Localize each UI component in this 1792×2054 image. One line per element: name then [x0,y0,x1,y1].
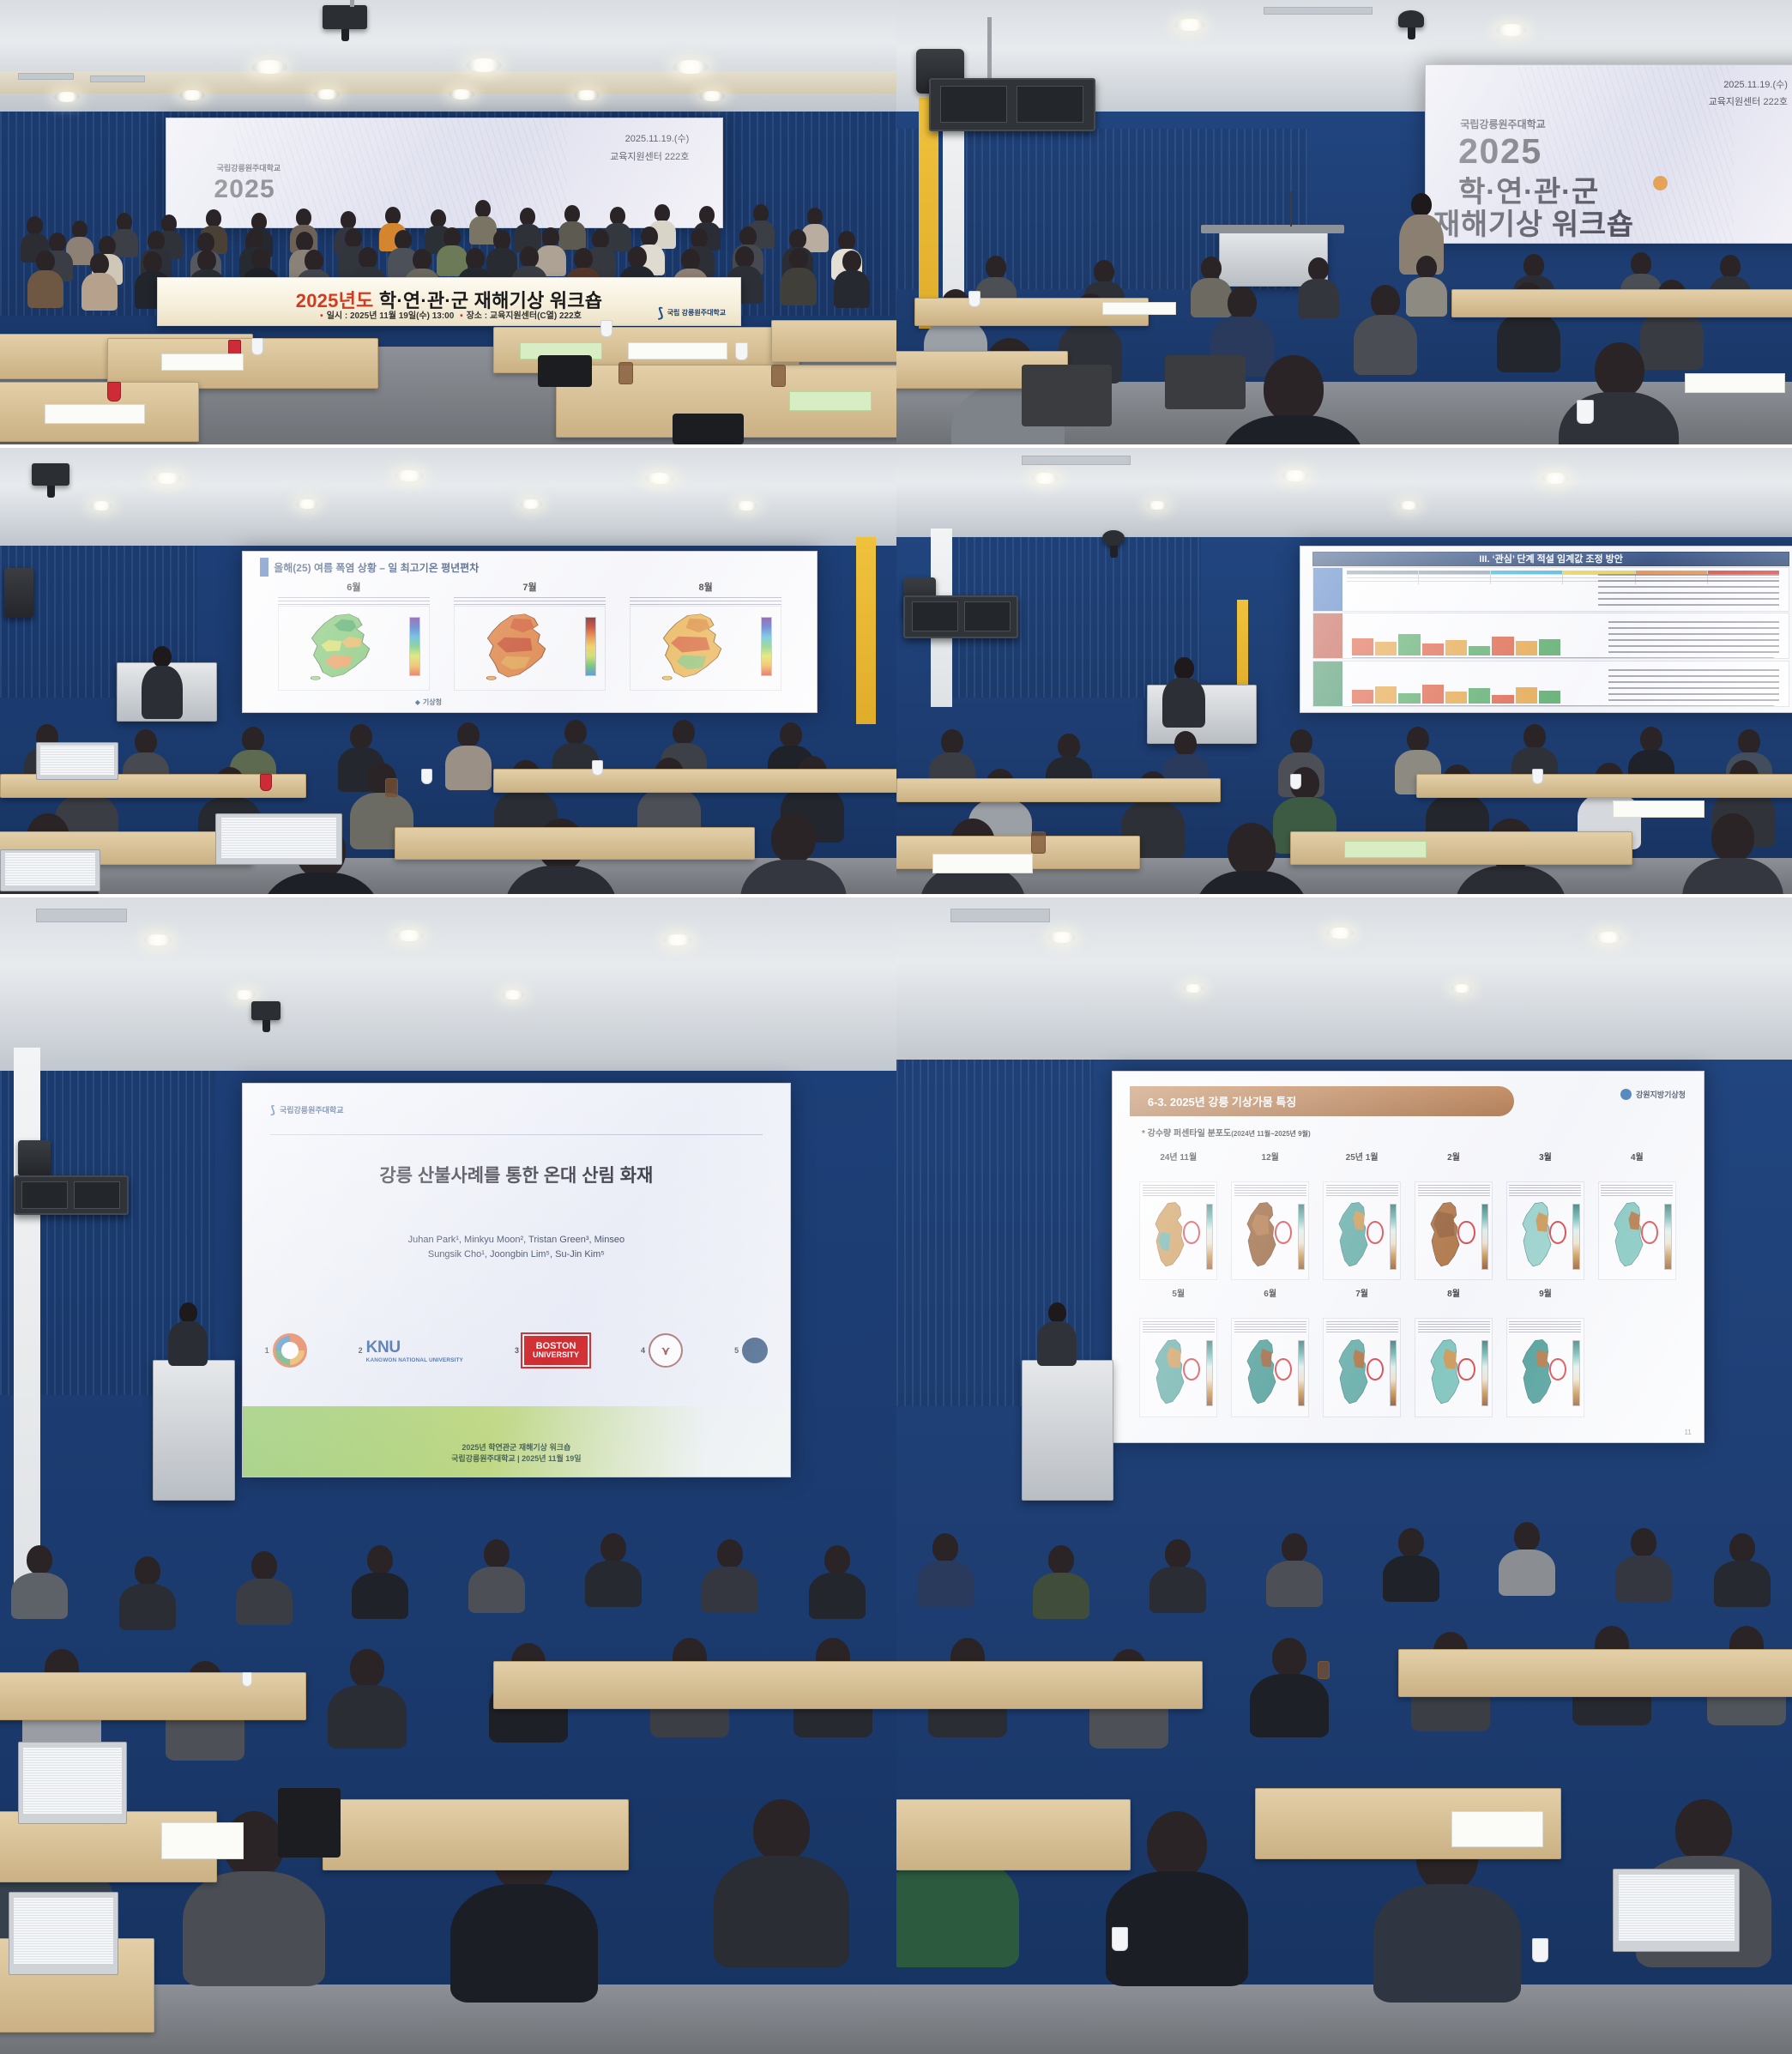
presenter-head [153,646,172,668]
slide-title: III. ‘관심’ 단계 적설 임계값 조정 방안 [1479,552,1623,565]
coffee-cup [1532,769,1543,784]
affiliation-number: 5 [734,1346,739,1355]
bar [1398,634,1420,655]
kma-label: 기상청 [423,698,442,707]
ceiling-light [395,470,424,481]
slide-footer-band [243,1406,789,1477]
event-banner: 2025년도 학·연·관·군 재해기상 워크숍 •일시 : 2025년 11월 … [157,277,741,326]
kma-logo: ◆ 기상청 [415,698,442,707]
drought-map-grid: 24년 11월 12월 [1136,1150,1680,1420]
ceiling-light [520,499,542,509]
table-cell [1491,582,1562,584]
iced-drink-cup [1318,1661,1330,1679]
title-slide: 2025.11.19.(수) 교육지원센터 222호 국립강릉원주대학교 202… [166,118,722,227]
presenter-head [179,1302,197,1323]
ceiling-vent [90,76,146,82]
highlight-circle [1641,1221,1658,1244]
ceiling-light [1542,473,1569,484]
table-cell [1419,578,1490,581]
ceiling-monitor-rig [14,1175,129,1215]
slide-footer: 2025년 학연관군 재해기상 워크숍 국립강릉원주대학교 | 2025년 11… [243,1442,789,1465]
desk [1398,1649,1792,1697]
map-caption [1143,1184,1215,1196]
section-tag-mountain [1313,613,1342,658]
map-frame [1415,1318,1493,1417]
korea-map-august [649,612,742,683]
map-note [630,595,781,605]
slide-body-text [1608,617,1779,653]
microphone-stand [1290,191,1292,227]
slide-line-2: 재해기상 워크숍 [1433,201,1634,243]
highlight-circle [1183,1221,1200,1244]
map-month-label: 8월 [626,580,785,594]
photo-collage: 2025.11.19.(수) 교육지원센터 222호 국립강릉원주대학교 202… [0,0,1792,2054]
projector [323,5,367,29]
map-cell: 5월 [1136,1286,1221,1420]
desk [896,778,1221,802]
ceiling-light [314,89,340,100]
affiliation-number: 3 [515,1346,519,1355]
kma-regional-name: 강원지방기상청 [1636,1089,1686,1100]
photo-heatwave-talk: 올해(25) 여름 폭염 상황 – 일 최고기온 평년편차 6월 [0,448,896,894]
desk [1416,774,1792,798]
ceiling-light [296,499,318,509]
ceiling-light [574,90,600,100]
bar [1539,691,1560,704]
kma-mark-icon: ◆ [415,698,420,706]
map-cell: 4월 [1595,1150,1680,1284]
map-month-label: 12월 [1228,1150,1312,1163]
boston-university-logo: BOSTON UNIVERSITY [522,1334,589,1367]
table-header-cell [1491,571,1562,573]
slide-room: 교육지원센터 222호 [610,148,689,166]
colorbar [409,617,420,676]
map-frame [1506,1318,1584,1417]
map-month-label: 7월 [450,580,609,594]
slide-title: 올해(25) 여름 폭염 상황 – 일 최고기온 평년편차 [274,560,479,575]
lectern [1022,1360,1113,1501]
ceiling-vent [950,909,1051,921]
colorbar [1572,1340,1579,1406]
presenter-body [168,1321,208,1366]
authors-line-1: Juhan Park¹, Minkyu Moon², Tristan Green… [243,1233,789,1248]
presentation-screen: 6-3. 2025년 강릉 기상가뭄 특징 강원지방기상청 * 강수량 퍼센타일… [1112,1071,1705,1442]
map-month-label: 4월 [1595,1150,1680,1163]
laptop [215,813,342,864]
colorbar [1481,1204,1488,1270]
map-month-label: 6월 [1228,1286,1312,1299]
lectern-top [1201,225,1344,233]
ceiling-vent [1022,456,1131,464]
coffee-cup [251,338,263,355]
ceiling-light [395,930,424,941]
map-frame [1506,1181,1584,1280]
map-cell: 25년 1월 [1319,1150,1404,1284]
table-cell [1347,582,1418,584]
handbag [538,355,592,386]
ceiling-vent [1264,7,1373,15]
bar [1422,685,1444,704]
map-note [454,595,606,605]
handout-paper [1102,302,1176,315]
highlight-circle [1275,1221,1292,1244]
desk [896,1799,1131,1870]
table-header-cell [1347,571,1418,573]
map-month-label: 5월 [1136,1286,1221,1299]
ceiling-light [233,990,256,1000]
table-cell [1419,575,1490,577]
map-frame [1598,1181,1676,1280]
map-frame [1139,1181,1217,1280]
coffee-cup [968,291,980,307]
subtitle-range: (2024년 11월~2025년 9월) [1231,1130,1310,1138]
presenter-head [1174,657,1194,680]
bar [1516,687,1537,704]
affiliation-logo-5: 5 [734,1338,768,1363]
bar [1539,639,1560,655]
authors-line-2: Sungsik Cho¹, Joongbin Lim⁵, Su-Jin Kim⁵ [243,1248,789,1262]
bar [1445,640,1467,655]
slide-header-bar: 6-3. 2025년 강릉 기상가뭄 특징 [1130,1086,1514,1116]
laptop [1613,1869,1740,1951]
map-cell: 7월 [450,580,609,692]
bu-line-2: UNIVERSITY [533,1351,579,1359]
snow-threshold-slide: III. ‘관심’ 단계 적설 임계값 조정 방안 [1300,547,1792,711]
highlight-circle [1183,1358,1200,1381]
highlight-circle [1457,1221,1475,1244]
desk [771,320,896,362]
green-notebook [789,391,872,411]
desk [493,1661,896,1709]
slide-caption [1352,703,1775,706]
iced-drink-cup [1031,831,1046,854]
coffee-cup [1112,1927,1128,1951]
photo-group-ceremony: 2025.11.19.(수) 교육지원센터 222호 국립강릉원주대학교 202… [0,0,896,444]
affiliation-logo-bu: 3 BOSTON UNIVERSITY [515,1334,589,1367]
university-mark-icon: ⟆ [270,1103,275,1117]
desk [323,1799,629,1870]
ceiling [0,897,896,1094]
map-month-label: 9월 [1503,1286,1588,1299]
projector [32,463,69,486]
table-cell [1347,575,1418,577]
slide-year: 2025 [1458,131,1542,172]
footer-line-2: 국립강릉원주대학교 | 2025년 11월 19일 [243,1453,789,1465]
slide-subtitle: * 강수량 퍼센타일 분포도(2024년 11월~2025년 9월) [1142,1126,1311,1139]
projector [251,1001,281,1020]
highlight-circle [1549,1358,1566,1381]
colorbar [1390,1204,1397,1270]
laptop [0,849,100,891]
handout-paper [1451,1811,1542,1847]
section-tag-inland [1313,568,1342,611]
ceiling-monitor-rig [929,78,1095,131]
floor [896,1985,1792,2054]
footer-line-1: 2025년 학연관군 재해기상 워크숍 [243,1442,789,1453]
highlight-circle [1367,1221,1384,1244]
university-logo: ⟆ 국립강릉원주대학교 [270,1103,343,1117]
projector [1398,10,1424,27]
projector-mount [350,0,354,7]
ceiling-vent [18,73,74,80]
ceiling-light [153,473,182,484]
map-cell: 24년 11월 [1136,1150,1221,1284]
highlight-circle [1457,1358,1475,1381]
slide-brush-texture [233,118,567,227]
highlight-circle [1549,1221,1566,1244]
ceiling-light [502,990,524,1000]
heatwave-slide: 올해(25) 여름 폭염 상황 – 일 최고기온 평년편차 6월 [243,552,817,712]
map-frame [1231,1318,1309,1417]
coffee-cup [592,760,603,776]
slide-university: 국립강릉원주대학교 [217,162,281,173]
handout-paper [1613,800,1704,818]
wildfire-title-slide: ⟆ 국립강릉원주대학교 강릉 산불사례를 통한 온대 산림 화재 Juhan P… [243,1084,789,1477]
map-caption [1601,1184,1673,1196]
colorbar [1390,1340,1397,1406]
slide-date-block: 2025.11.19.(수) 교육지원센터 222호 [1709,76,1788,112]
handbag [673,414,745,444]
colorbar [1572,1204,1579,1270]
handout-paper [45,404,145,424]
photo-opening-talk: 2025.11.19.(수) 교육지원센터 222호 국립강릉원주대학교 202… [896,0,1792,444]
presenter-body [1162,678,1205,728]
ceiling-light [54,92,80,102]
photo-wildfire-talk: ⟆ 국립강릉원주대학교 강릉 산불사례를 통한 온대 산림 화재 Juhan P… [0,897,896,2054]
map-cell: 7월 [1319,1286,1404,1420]
map-cell: 9월 [1503,1286,1588,1420]
yellow-wall-column [856,537,876,724]
desk [493,769,896,793]
knu-fullname: KANGWON NATIONAL UNIVERSITY [366,1357,463,1363]
banner-place: 장소 : 교육지원센터(C열) 222호 [467,311,582,321]
bar [1492,637,1513,656]
map-note [278,595,430,605]
ceiling-light [1282,470,1309,481]
affiliation-seal-icon [742,1338,768,1363]
banner-university-logo: ⟆ 국립 강릉원주대학교 [657,305,726,322]
coffee-cup [421,769,432,784]
slide-year: 2025 [214,175,275,204]
colorbar [585,617,596,676]
desk [0,1672,306,1720]
presentation-screen: 2025.11.19.(수) 교육지원센터 222호 국립강릉원주대학교 202… [166,118,723,228]
iced-drink-cup [385,778,398,797]
map-caption [1326,1321,1398,1333]
desk [896,1661,1203,1709]
affiliation-number: 1 [265,1346,269,1355]
table-header-cell [1419,571,1490,573]
coffee-cup [1577,400,1594,424]
desk [1451,289,1792,317]
colorbar [761,617,772,676]
coffee-cup [600,320,612,337]
slide-title-row: 올해(25) 여름 폭염 상황 – 일 최고기온 평년편차 [260,558,479,577]
slide-section-mountain [1312,613,1789,659]
ceiling [896,897,1792,1083]
map-frame [1415,1181,1493,1280]
affiliation-logo-ncam: 1 [265,1333,307,1368]
bar [1375,642,1397,655]
map-frame [1139,1318,1217,1417]
slide-date: 2025.11.19.(수) [1709,76,1788,94]
slide-page-number: 11 [1685,1429,1692,1436]
table-cell [1491,578,1562,581]
colorbar [1664,1204,1671,1270]
bar [1445,692,1467,704]
iced-drink-cup [618,362,633,384]
lectern [153,1360,235,1501]
table-cell [1419,582,1490,584]
accent-dot [1653,176,1668,190]
colorbar [1206,1204,1213,1270]
colorbar [1298,1340,1305,1406]
banner-subtitle: •일시 : 2025년 11월 19일(수) 13:00 •장소 : 교육지원센… [158,308,740,321]
slide-header-text: 6-3. 2025년 강릉 기상가뭄 특징 [1148,1093,1296,1109]
bar [1352,638,1373,655]
ceiling-monitor-rig [903,595,1018,638]
map-cell: 6월 [275,580,433,692]
map-caption [1418,1321,1490,1333]
map-cell: 3월 [1503,1150,1588,1284]
ceiling-speaker [18,1140,51,1176]
handout-paper [161,353,244,371]
map-month-label: 24년 11월 [1136,1150,1221,1163]
map-cell: 8월 [626,580,785,692]
white-wall-column [14,1048,40,1615]
map-month-label: 7월 [1319,1286,1404,1299]
handout-paper [932,854,1033,873]
coffee-cup [735,342,748,360]
map-caption [1418,1184,1490,1196]
highlight-circle [1275,1358,1292,1381]
map-caption [1509,1184,1581,1196]
university-mark-icon: ⟆ [657,305,663,322]
map-frame [278,606,430,690]
affiliation-number: 4 [641,1346,645,1355]
iced-drink-cup [771,365,786,387]
ceiling-light [449,89,474,100]
map-month-label: 2월 [1411,1150,1496,1163]
ceiling-light [1326,927,1354,939]
map-month-label: 25년 1월 [1319,1150,1404,1163]
map-caption [1509,1321,1581,1333]
chair [1165,355,1246,408]
bar [1422,643,1444,655]
presenter-head [1411,193,1432,216]
slide-university: 국립강릉원주대학교 [1460,117,1545,131]
map-month-label: 6월 [275,580,433,594]
knu-abbrev: KNU [366,1338,401,1356]
slide-section-inland [1312,567,1789,612]
coffee-cup [242,1672,252,1687]
kma-regional-logo: 강원지방기상청 [1620,1089,1686,1100]
slide-body-text [1598,571,1778,606]
slide-date: 2025.11.19.(수) [610,130,689,148]
map-frame [454,606,606,690]
laptop [9,1892,118,1974]
handout-paper [1685,373,1785,393]
bar [1469,688,1490,704]
coffee-cup [1532,1938,1548,1962]
photo-drought-talk: 6-3. 2025년 강릉 기상가뭄 특징 강원지방기상청 * 강수량 퍼센타일… [896,897,1792,2054]
ceiling [0,448,896,555]
kma-mark-icon [1620,1089,1632,1100]
banner-logo-text: 국립 강릉원주대학교 [667,310,726,317]
map-cell: 6월 [1228,1286,1312,1420]
wall-speaker [4,568,33,618]
slide-title: 강릉 산불사례를 통한 온대 산림 화재 [243,1162,789,1187]
korea-map-june [297,612,390,683]
desk [395,827,755,860]
presentation-screen: 2025.11.19.(수) 교육지원센터 222호 국립강릉원주대학교 202… [1425,64,1792,244]
coffee-cup [107,382,121,402]
slide-section-coast [1312,661,1789,707]
section-tag-coast [1313,662,1342,706]
laptop [36,742,118,780]
colorbar [1481,1340,1488,1406]
highlight-circle [1367,1358,1384,1381]
detection-bar-chart [1352,680,1560,704]
map-month-label: 8월 [1411,1286,1496,1299]
table-cell [1347,578,1418,581]
map-cell: 2월 [1411,1150,1496,1284]
handbag [278,1788,341,1858]
map-caption [1234,1321,1306,1333]
yellow-wall-column [1237,600,1249,698]
coffee-cup [1290,774,1301,789]
map-cell: 12월 [1228,1150,1312,1284]
bar [1352,690,1373,704]
bar [1375,686,1397,704]
handout-paper [161,1822,244,1858]
presenter-head [1048,1302,1066,1323]
desk [1290,831,1632,864]
colorbar [1206,1340,1213,1406]
affiliation-logo-knu: 2 KNU KANGWON NATIONAL UNIVERSITY [359,1338,463,1363]
slide-body-text [1608,665,1779,701]
map-caption [1143,1321,1215,1333]
ceiling-vent [36,909,128,921]
banner-date: 일시 : 2025년 11월 19일(수) 13:00 [327,311,455,321]
presenter-body [1037,1321,1077,1366]
slide-title-band: III. ‘관심’ 단계 적설 임계값 조정 방안 [1312,552,1789,565]
laptop [18,1742,127,1824]
subtitle-text: * 강수량 퍼센타일 분포도 [1142,1129,1231,1139]
presentation-screen: ⟆ 국립강릉원주대학교 강릉 산불사례를 통한 온대 산림 화재 Juhan P… [242,1083,790,1477]
coffee-cup [260,774,272,791]
slide-authors: Juhan Park¹, Minkyu Moon², Tristan Green… [243,1233,789,1262]
title-slide: 2025.11.19.(수) 교육지원센터 222호 국립강릉원주대학교 202… [1426,65,1792,243]
presentation-screen: III. ‘관심’ 단계 적설 임계값 조정 방안 [1300,546,1792,712]
gwnu-seal-icon: ⋎ [649,1333,683,1368]
ceiling-light [1031,473,1059,484]
green-notebook [1344,841,1427,858]
ceiling-light [645,473,674,484]
slide-date-block: 2025.11.19.(수) 교육지원센터 222호 [610,130,689,166]
colorbar [1298,1204,1305,1270]
korea-map-july [473,612,566,683]
map-frame [1231,1181,1309,1280]
map-caption [1234,1184,1306,1196]
yellow-wall-column [919,98,938,329]
map-frame [630,606,781,690]
presentation-screen: 올해(25) 여름 폭염 상황 – 일 최고기온 평년편차 6월 [242,551,818,713]
map-cell-empty [1595,1286,1680,1420]
title-tick-icon [260,558,268,577]
handout-paper [628,342,728,359]
ncam-logo-icon [273,1333,307,1368]
